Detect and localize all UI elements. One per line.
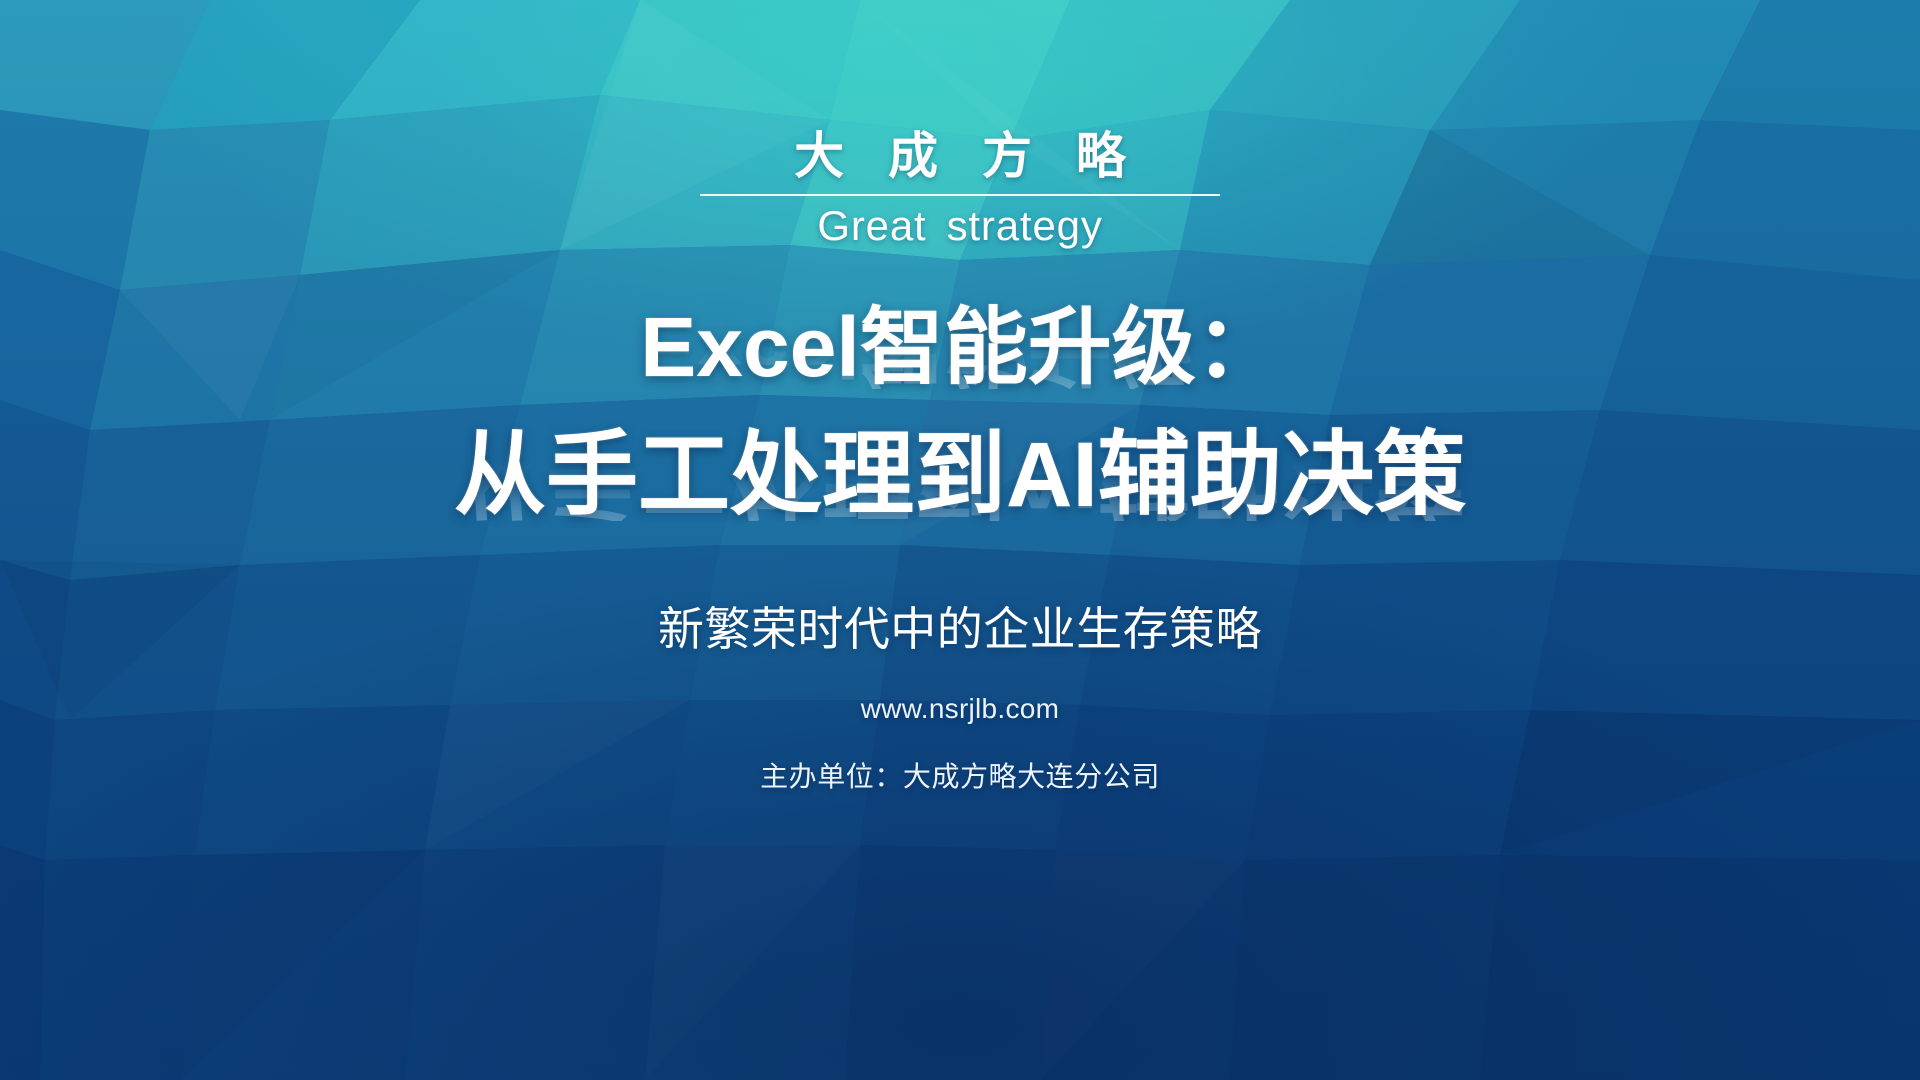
brand-name-cn: 大 成 方 略 bbox=[700, 128, 1220, 184]
brand-en-left: Great bbox=[817, 202, 926, 249]
brand-divider-rule bbox=[700, 194, 1220, 196]
brand-en-right: strategy bbox=[947, 202, 1103, 249]
title-line-1: Excel智能升级： Excel智能升级： bbox=[0, 305, 1920, 389]
title-line-1-text: Excel智能升级： bbox=[640, 300, 1280, 394]
organizer-line: 主办单位：大成方略大连分公司 bbox=[760, 755, 1160, 795]
title-line-2-text: 从手工处理到AI辅助决策 bbox=[454, 424, 1466, 526]
subtitle: 新繁荣时代中的企业生存策略 bbox=[658, 593, 1262, 659]
brand-name-en: Greatstrategy bbox=[700, 200, 1220, 253]
title-slide: 大 成 方 略 Greatstrategy Excel智能升级： Excel智能… bbox=[0, 0, 1920, 1080]
website-url: www.nsrjlb.com bbox=[861, 693, 1059, 725]
brand-logo: 大 成 方 略 Greatstrategy bbox=[700, 128, 1220, 253]
title-line-2: 从手工处理到AI辅助决策 从手工处理到AI辅助决策 bbox=[0, 429, 1920, 521]
main-title: Excel智能升级： Excel智能升级： 从手工处理到AI辅助决策 从手工处理… bbox=[0, 305, 1920, 521]
